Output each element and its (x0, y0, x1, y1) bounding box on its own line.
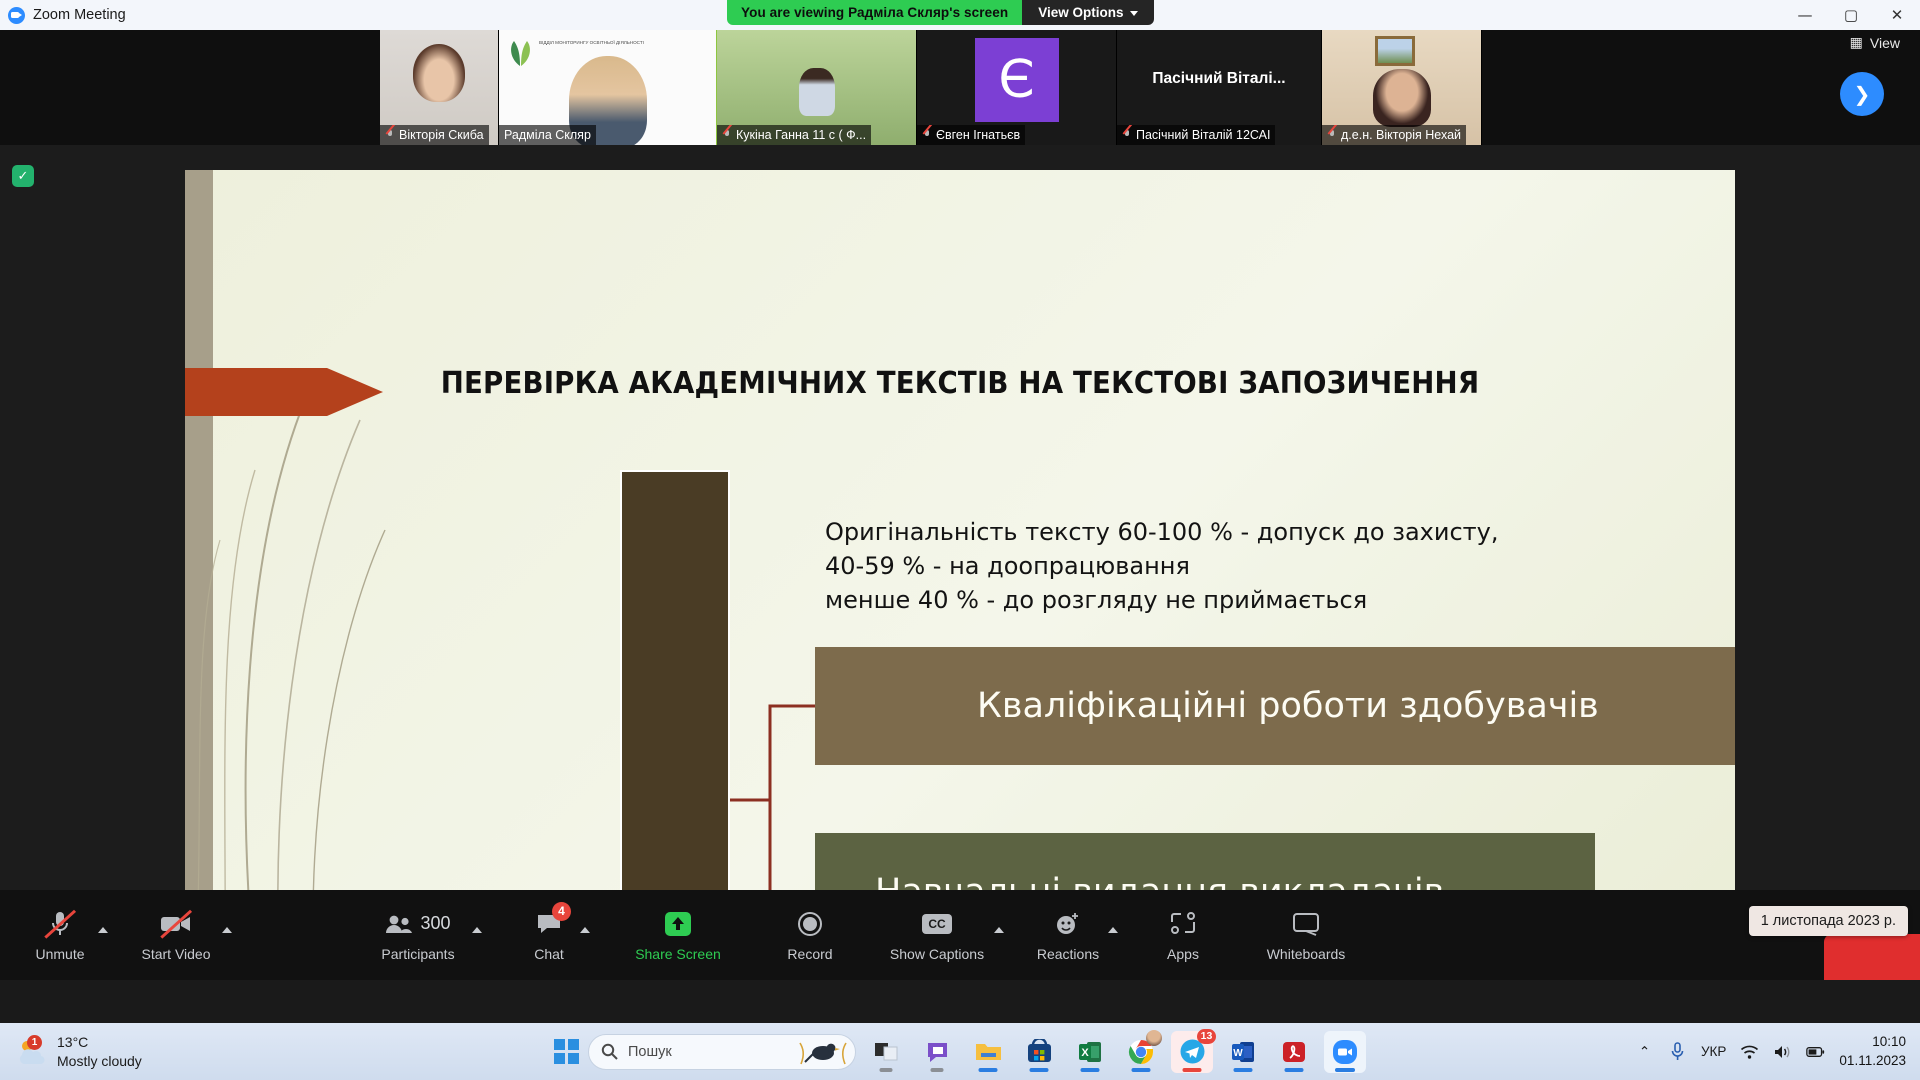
participant-name: д.е.н. Вікторія Нехай (1341, 128, 1461, 142)
chevron-right-icon: ❯ (1854, 82, 1871, 106)
date-tooltip: 1 листопада 2023 р. (1749, 906, 1908, 936)
close-button[interactable]: ✕ (1874, 0, 1920, 30)
window-controls: — ▢ ✕ (1782, 0, 1920, 30)
chat-unread-badge: 4 (552, 902, 571, 921)
participant-name-bar: Євген Ігнатьєв (917, 125, 1025, 145)
taskbar-app-task-view[interactable] (865, 1031, 907, 1073)
originality-criteria-text: Оригінальність тексту 60-100 % - допуск … (825, 515, 1645, 617)
record-icon (797, 909, 823, 939)
viewing-screen-label: You are viewing Радміла Скляр's screen (727, 0, 1022, 25)
thumbnail-kukina-hanna[interactable]: Кукіна Ганна 11 с ( Ф... (717, 30, 917, 145)
taskbar-app-word[interactable]: W (1222, 1031, 1264, 1073)
microphone-muted-icon (49, 909, 71, 939)
organization-logo-icon (508, 39, 533, 67)
clock-date: 01.11.2023 (1839, 1052, 1906, 1071)
captions-caret-icon[interactable] (994, 927, 1004, 933)
wall-picture (1375, 36, 1415, 66)
store-icon (1027, 1039, 1052, 1064)
mic-muted-icon (722, 129, 732, 141)
weather-text: 13°C Mostly cloudy (57, 1033, 142, 1071)
criteria-line-3: менше 40 % - до розгляду не приймається (825, 583, 1645, 617)
camera-off-icon (160, 909, 192, 939)
audio-options-caret-icon[interactable] (98, 927, 108, 933)
participant-name-bar: д.е.н. Вікторія Нехай (1322, 125, 1466, 145)
participants-icon-group: 300 (385, 909, 450, 939)
unicheck-vertical-box: Онлайн-сервіс Unicheck (620, 470, 730, 920)
grid-view-icon: ▦ (1850, 34, 1863, 51)
weather-badge: 1 (27, 1035, 42, 1050)
search-icon (601, 1043, 618, 1060)
criteria-line-1: Оригінальність тексту 60-100 % - допуск … (825, 515, 1645, 549)
reactions-caret-icon[interactable] (1108, 927, 1118, 933)
participant-name-bar: Вікторія Скиба (380, 125, 489, 145)
grass-decoration (185, 170, 485, 980)
record-label: Record (787, 946, 832, 962)
windows-start-icon[interactable] (554, 1039, 579, 1064)
participant-name: Пасічний Віталій 12САІ (1136, 128, 1270, 142)
thumbnail-radmila-sklyar[interactable]: ВІДДІЛ МОНІТОРИНГУ ОСВІТНЬОЇ ДІЯЛЬНОСТІ … (499, 30, 717, 145)
share-screen-icon (664, 909, 692, 939)
participant-name: Євген Ігнатьєв (936, 128, 1020, 142)
end-meeting-button[interactable] (1824, 934, 1920, 980)
box1-label: Кваліфікаційні роботи здобувачів (977, 686, 1599, 726)
clock-time: 10:10 (1839, 1033, 1906, 1052)
speaker-icon[interactable] (1773, 1042, 1792, 1061)
app-running-indicator (1183, 1068, 1202, 1072)
chat-label: Chat (534, 946, 564, 962)
shared-screen-slide: ПЕРЕВІРКА АКАДЕМІЧНИХ ТЕКСТІВ НА ТЕКСТОВ… (185, 170, 1735, 980)
app-running-indicator (1132, 1068, 1151, 1072)
taskbar-app-chrome[interactable] (1120, 1031, 1162, 1073)
unmute-label: Unmute (35, 946, 84, 962)
zoom-meeting-body: Вікторія Скиба ВІДДІЛ МОНІТОРИНГУ ОСВІТН… (0, 30, 1920, 980)
mic-muted-icon (922, 129, 932, 141)
slide-title: ПЕРЕВІРКА АКАДЕМІЧНИХ ТЕКСТІВ НА ТЕКСТОВ… (247, 366, 1673, 401)
reactions-button[interactable]: Reactions (1028, 900, 1108, 970)
taskbar-app-chat[interactable] (916, 1031, 958, 1073)
taskbar-app-acrobat[interactable] (1273, 1031, 1315, 1073)
taskbar-app-telegram[interactable]: 13 (1171, 1031, 1213, 1073)
weather-widget[interactable]: 1 13°C Mostly cloudy (16, 1033, 316, 1071)
participant-name-bar: Пасічний Віталій 12САІ (1117, 125, 1275, 145)
show-captions-label: Show Captions (890, 946, 984, 962)
telegram-unread-badge: 13 (1197, 1029, 1216, 1044)
app-running-indicator (1030, 1068, 1049, 1072)
system-tray: ⌃ УКР (1635, 1033, 1906, 1071)
app-running-indicator (880, 1068, 893, 1072)
window-title: Zoom Meeting (33, 7, 126, 23)
folder-icon (975, 1040, 1002, 1063)
maximize-button[interactable]: ▢ (1828, 0, 1874, 30)
partly-cloudy-icon: 1 (16, 1037, 48, 1067)
strip-left-spacer (0, 30, 380, 145)
share-screen-label: Share Screen (635, 946, 721, 962)
encryption-shield-icon[interactable]: ✓ (12, 165, 34, 187)
chevron-down-icon (1130, 11, 1138, 16)
taskbar-app-microsoft-store[interactable] (1018, 1031, 1060, 1073)
avatar: Є (975, 38, 1059, 122)
record-button[interactable]: Record (774, 900, 846, 970)
search-placeholder: Пошук (628, 1044, 672, 1060)
unmute-button[interactable]: Unmute (22, 900, 98, 970)
teams-chat-icon (925, 1040, 950, 1064)
qualification-works-box: Кваліфікаційні роботи здобувачів (815, 647, 1735, 765)
video-options-caret-icon[interactable] (222, 927, 232, 933)
weather-temperature: 13°C (57, 1033, 142, 1052)
view-layout-button[interactable]: ▦ View (1850, 34, 1900, 51)
slide-left-band (185, 170, 213, 980)
show-captions-button[interactable]: CC Show Captions (880, 900, 994, 970)
whiteboard-icon (1292, 909, 1320, 939)
screen-share-banner: You are viewing Радміла Скляр's screen V… (727, 0, 1154, 25)
next-page-button[interactable]: ❯ (1840, 72, 1884, 116)
chat-button[interactable]: 4 Chat (518, 900, 580, 970)
microphone-icon[interactable] (1668, 1042, 1687, 1061)
app-running-indicator (1081, 1068, 1100, 1072)
participants-caret-icon[interactable] (472, 927, 482, 933)
thumbnail-viktoriia-skyba[interactable]: Вікторія Скиба (380, 30, 499, 145)
start-video-label: Start Video (141, 946, 210, 962)
share-screen-button[interactable]: Share Screen (622, 900, 734, 970)
organization-logo-text: ВІДДІЛ МОНІТОРИНГУ ОСВІТНЬОЇ ДІЯЛЬНОСТІ (539, 40, 689, 47)
svg-text:W: W (1233, 1048, 1243, 1059)
app-running-indicator (979, 1068, 998, 1072)
weather-condition: Mostly cloudy (57, 1052, 142, 1071)
taskbar-app-zoom[interactable] (1324, 1031, 1366, 1073)
search-bird-illustration (797, 1038, 849, 1068)
zoom-logo-icon (8, 7, 25, 24)
view-options-label: View Options (1038, 5, 1123, 20)
zoom-toolbar: Unmute Start Video 300 (0, 890, 1920, 980)
keyboard-language[interactable]: УКР (1701, 1044, 1726, 1059)
participants-icon (385, 914, 413, 934)
taskbar-center-group: Пошук (554, 1031, 1366, 1073)
thumbnail-yevhen-ihnatiev[interactable]: Є Євген Ігнатьєв (917, 30, 1117, 145)
participant-name-bar: Кукіна Ганна 11 с ( Ф... (717, 125, 871, 145)
mic-muted-icon (385, 129, 395, 141)
thumbnail-pasichnyi-vitalii[interactable]: Пасічний Віталі... Пасічний Віталій 12СА… (1117, 30, 1322, 145)
chat-icon: 4 (536, 909, 562, 939)
participants-button[interactable]: 300 Participants (364, 900, 472, 970)
clock[interactable]: 10:10 01.11.2023 (1839, 1033, 1906, 1071)
criteria-line-2: 40-59 % - на доопрацювання (825, 549, 1645, 583)
reactions-icon (1055, 909, 1081, 939)
thumbnail-viktoriia-nehay[interactable]: д.е.н. Вікторія Нехай (1322, 30, 1482, 145)
chevron-up-icon[interactable]: ⌃ (1635, 1042, 1654, 1061)
mic-muted-icon (1327, 129, 1337, 141)
app-running-indicator (1285, 1068, 1304, 1072)
apps-label: Apps (1167, 946, 1199, 962)
chat-caret-icon[interactable] (580, 927, 590, 933)
apps-button[interactable]: Apps (1148, 900, 1218, 970)
minimize-button[interactable]: — (1782, 0, 1828, 30)
participant-name-bar: Радміла Скляр (499, 125, 596, 145)
user-avatar (1146, 1030, 1162, 1046)
whiteboards-label: Whiteboards (1267, 946, 1346, 962)
search-input[interactable]: Пошук (588, 1034, 856, 1070)
app-running-indicator (931, 1068, 944, 1072)
app-running-indicator (1335, 1068, 1355, 1072)
vertical-red-caption: Положення про систему запобігання та вия… (510, 425, 570, 925)
windows-taskbar: 1 13°C Mostly cloudy Пошук (0, 1023, 1920, 1080)
reactions-label: Reactions (1037, 946, 1099, 962)
view-options-button[interactable]: View Options (1022, 0, 1154, 25)
view-label: View (1870, 35, 1900, 51)
participant-name: Кукіна Ганна 11 с ( Ф... (736, 128, 866, 142)
participants-count: 300 (420, 913, 450, 934)
participants-label: Participants (381, 946, 454, 962)
zoom-icon (1332, 1039, 1358, 1065)
cc-icon: CC (922, 909, 951, 939)
svg-text:X: X (1081, 1047, 1089, 1059)
whiteboards-button[interactable]: Whiteboards (1252, 900, 1360, 970)
acrobat-icon (1282, 1040, 1306, 1064)
taskbar-app-file-explorer[interactable] (967, 1031, 1009, 1073)
participant-name: Радміла Скляр (504, 128, 591, 142)
participant-name: Вікторія Скиба (399, 128, 484, 142)
app-running-indicator (1234, 1068, 1253, 1072)
participant-thumbnail-strip: Вікторія Скиба ВІДДІЛ МОНІТОРИНГУ ОСВІТН… (0, 30, 1920, 145)
word-icon: W (1231, 1040, 1255, 1064)
apps-icon (1170, 909, 1196, 939)
excel-icon: X (1078, 1040, 1102, 1064)
start-video-button[interactable]: Start Video (130, 900, 222, 970)
taskbar-app-excel[interactable]: X (1069, 1031, 1111, 1073)
task-view-icon (874, 1040, 899, 1063)
wifi-icon[interactable] (1740, 1042, 1759, 1061)
mic-muted-icon (1122, 129, 1132, 141)
battery-icon[interactable] (1806, 1042, 1825, 1061)
